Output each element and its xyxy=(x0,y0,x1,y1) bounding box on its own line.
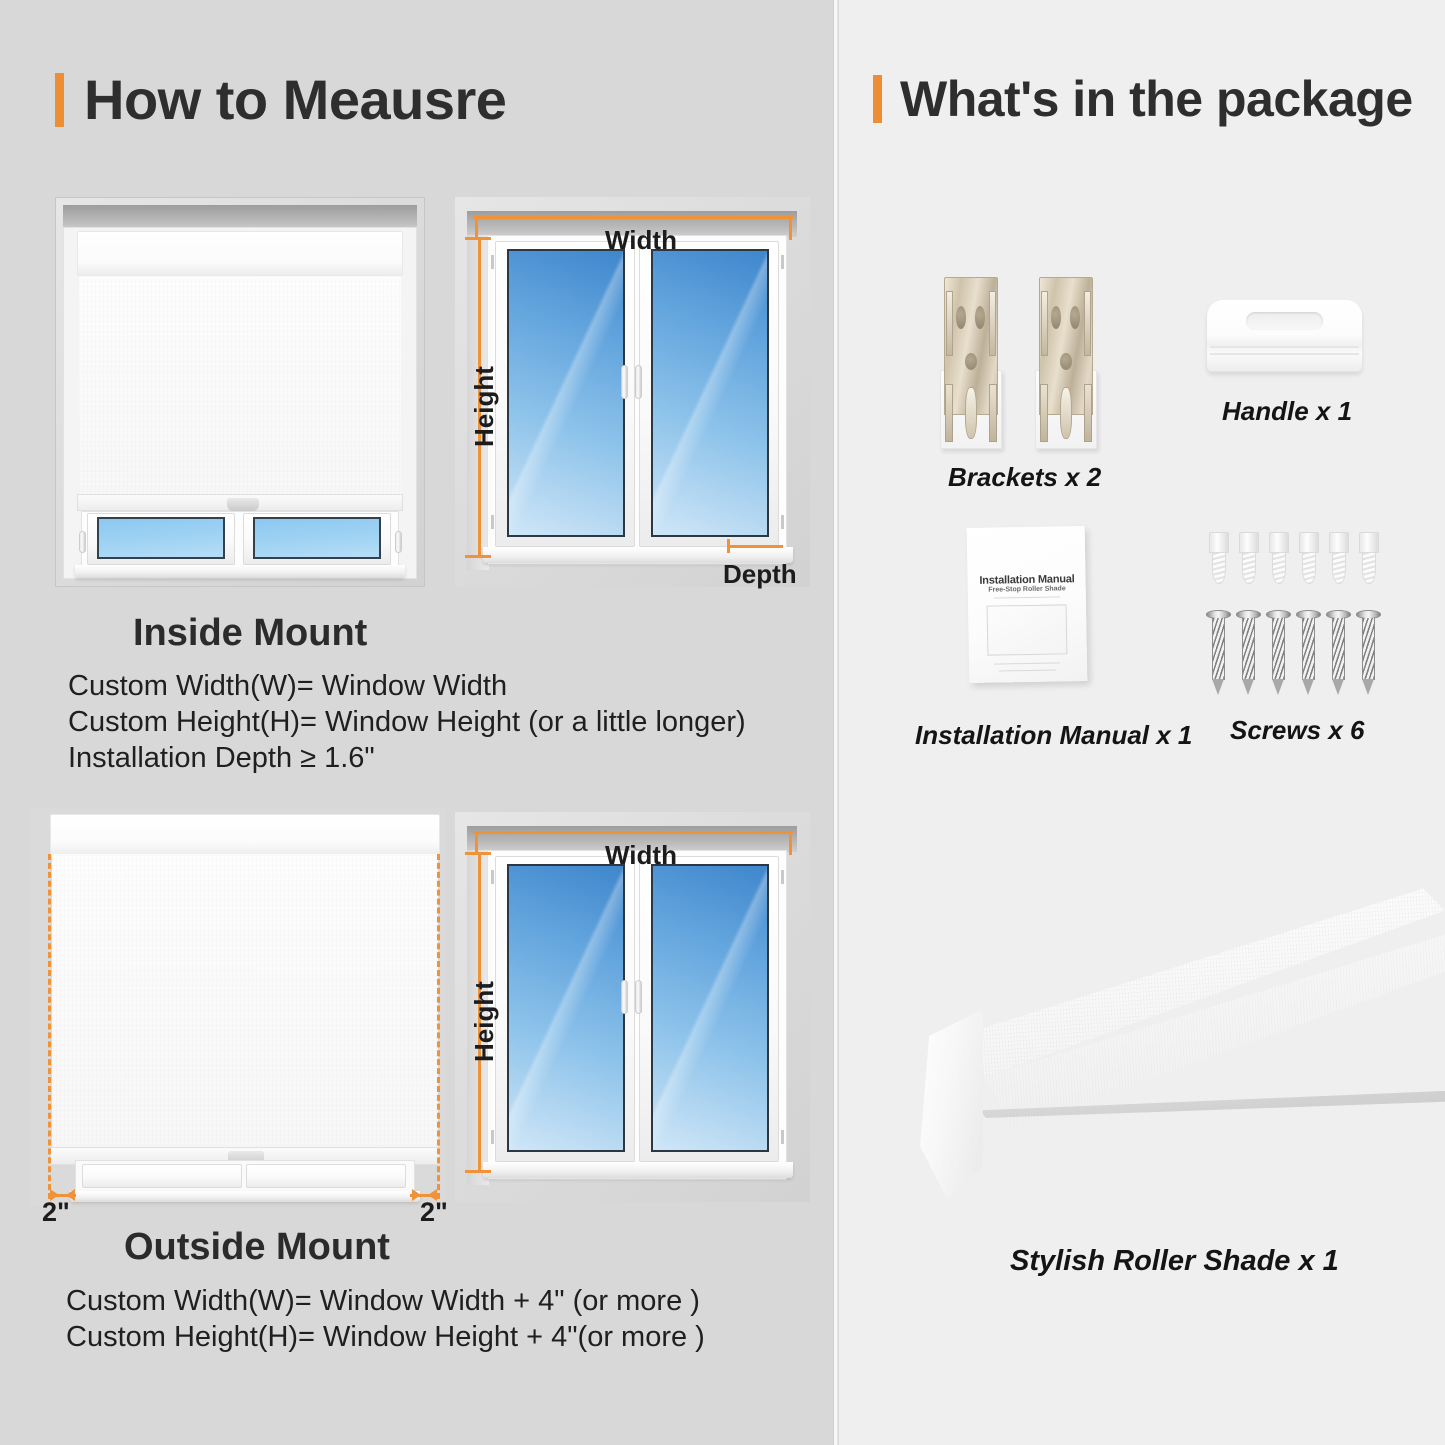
screw-icon xyxy=(1302,610,1315,688)
handle-label: Handle x 1 xyxy=(1222,396,1352,427)
inside-mount-title: Inside Mount xyxy=(133,612,367,655)
manual-icon: Installation Manual Free-Stop Roller Sha… xyxy=(968,527,1086,682)
right-overhang-guide xyxy=(437,854,440,1199)
roller-shade-icon xyxy=(900,880,1445,1220)
inside-mount-shade-illustration xyxy=(55,197,425,587)
infographic-page: How to Meausre xyxy=(0,0,1445,1445)
manual-label: Installation Manual x 1 xyxy=(915,720,1192,751)
screw-icon xyxy=(1332,610,1345,688)
outside-mount-shade-illustration xyxy=(30,808,445,1206)
wall-anchor-icon xyxy=(1299,532,1319,584)
heading-accent-bar xyxy=(55,73,64,127)
screw-icon xyxy=(1242,610,1255,688)
overhang-right-label: 2" xyxy=(420,1197,448,1228)
wall-anchor-icon xyxy=(1209,532,1229,584)
outside-mount-line-2: Custom Height(H)= Window Height + 4"(or … xyxy=(66,1321,705,1354)
package-heading: What's in the package xyxy=(873,74,1413,124)
wall-anchor-icon xyxy=(1269,532,1289,584)
wall-anchor-icon xyxy=(1239,532,1259,584)
wall-anchor-icon xyxy=(1329,532,1349,584)
panel-divider xyxy=(833,0,838,1445)
bracket-icon xyxy=(940,277,1002,449)
inside-mount-line-1: Custom Width(W)= Window Width xyxy=(68,670,507,703)
left-overhang-guide xyxy=(48,854,51,1199)
outside-mount-line-1: Custom Width(W)= Window Width + 4" (or m… xyxy=(66,1285,700,1318)
screw-icon xyxy=(1272,610,1285,688)
screw-icon xyxy=(1362,610,1375,688)
inside-mount-line-3: Installation Depth ≥ 1.6" xyxy=(68,742,375,775)
wall-anchor-icon xyxy=(1359,532,1379,584)
screw-icon xyxy=(1212,610,1225,688)
outside-mount-title: Outside Mount xyxy=(124,1226,390,1269)
depth-measure-line xyxy=(727,545,783,548)
screws-label: Screws x 6 xyxy=(1230,715,1364,746)
width-measure-line xyxy=(473,216,793,219)
brackets-label: Brackets x 2 xyxy=(948,462,1101,493)
width-label: Width xyxy=(605,225,677,256)
bracket-icon xyxy=(1035,277,1097,449)
height-label-outside: Height xyxy=(469,981,500,1062)
width-label-outside: Width xyxy=(605,840,677,871)
depth-label: Depth xyxy=(723,559,797,590)
heading-text: How to Meausre xyxy=(84,72,506,128)
package-heading-text: What's in the package xyxy=(900,74,1413,124)
overhang-left-label: 2" xyxy=(42,1197,70,1228)
inside-mount-measure-diagram: Width Height Depth xyxy=(455,197,810,587)
roller-shade-label: Stylish Roller Shade x 1 xyxy=(1010,1245,1339,1278)
inside-mount-line-2: Custom Height(H)= Window Height (or a li… xyxy=(68,706,746,739)
height-label: Height xyxy=(469,366,500,447)
outside-mount-measure-diagram: Width Height xyxy=(455,812,810,1202)
heading-accent-bar xyxy=(873,75,882,123)
how-to-measure-heading: How to Meausre xyxy=(55,72,506,128)
handle-icon xyxy=(1207,300,1362,372)
